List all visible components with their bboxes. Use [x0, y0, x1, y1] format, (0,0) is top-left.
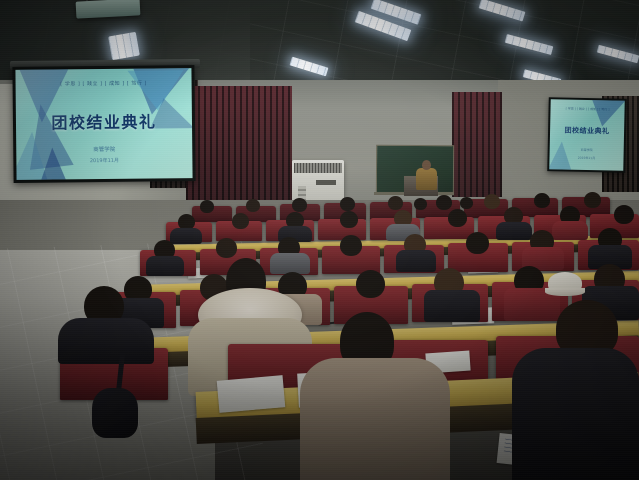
slide-organization: 商管学院: [16, 144, 192, 154]
lecture-hall-photo: [ 学思 ] [ 践立 ] [ 成知 ] [ 笃行 ] 团校结业典礼 商管学院 …: [0, 0, 639, 480]
audience-head: [340, 235, 362, 256]
audience-torso: [512, 348, 639, 480]
audience-head: [414, 198, 427, 210]
audience-head: [356, 270, 385, 298]
audience-head: [340, 211, 358, 228]
audience-head: [292, 198, 307, 212]
curtain-center: [186, 86, 292, 204]
handout-paper: [217, 375, 286, 413]
secondary-projection-screen: [ 学思 ] [ 践立 ] [ 成知 ] [ 笃行 ] 团校结业典礼 商管学院 …: [547, 97, 627, 173]
slide-date: 2019年11月: [16, 156, 192, 165]
audience-torso: [58, 318, 154, 364]
audience-torso: [552, 221, 588, 240]
audience-torso: [396, 250, 436, 272]
audience-head: [388, 196, 403, 210]
audience-torso: [146, 256, 184, 276]
presenter-body: [416, 168, 437, 190]
audience-head: [232, 213, 249, 229]
audience-head: [466, 232, 489, 254]
audience-torso: [496, 222, 532, 240]
audience-head: [436, 195, 452, 210]
main-projection-screen: [ 学思 ] [ 践立 ] [ 成知 ] [ 笃行 ] 团校结业典礼 商管学院 …: [12, 65, 195, 183]
slide-title: 团校结业典礼: [16, 108, 192, 134]
secondary-slide: [ 学思 ] [ 践立 ] [ 成知 ] [ 笃行 ] 团校结业典礼 商管学院 …: [549, 99, 624, 171]
presenter-head: [422, 160, 431, 170]
secondary-slide-title: 团校结业典礼: [550, 125, 624, 137]
audience-head: [484, 194, 500, 209]
audience-head: [448, 209, 467, 227]
audience-head: [460, 197, 473, 209]
cap-brim: [545, 288, 585, 296]
audience-head: [246, 199, 260, 212]
audience-torso: [170, 228, 202, 244]
slide-decor-polygon: [590, 99, 625, 127]
tan-vest-student-torso: [300, 358, 450, 480]
audience-head: [534, 193, 550, 208]
audience-head: [216, 238, 237, 258]
audience-head: [584, 192, 601, 208]
audience-torso: [424, 290, 480, 322]
backpack-on-floor: [92, 388, 138, 438]
presentation-slide: [ 学思 ] [ 践立 ] [ 成知 ] [ 笃行 ] 团校结业典礼 商管学院 …: [15, 68, 192, 180]
ac-grille: [294, 163, 342, 173]
audience-head: [340, 197, 355, 211]
secondary-slide-tagline: [ 学思 ] [ 践立 ] [ 成知 ] [ 笃行 ]: [551, 106, 625, 112]
audience-head: [200, 200, 214, 213]
curtain-right: [452, 92, 502, 197]
audience-torso: [270, 253, 310, 274]
audience-head: [614, 205, 634, 224]
ac-display-panel: [316, 180, 336, 185]
ceiling-light-fixture: [108, 32, 140, 60]
